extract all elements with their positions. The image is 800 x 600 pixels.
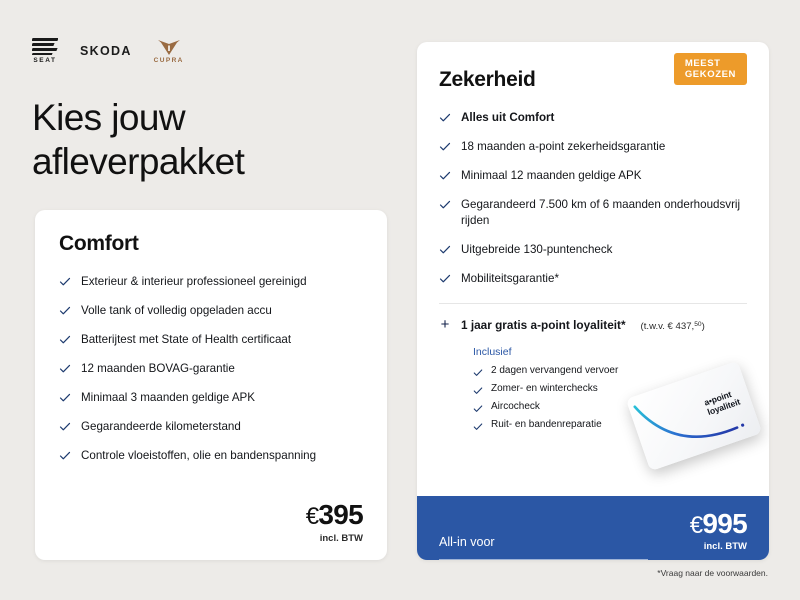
bonus-value-prefix: (t.w.v. € 437, bbox=[641, 321, 695, 332]
footer-price: €995 bbox=[690, 510, 747, 538]
seat-wordmark: SEAT bbox=[33, 57, 56, 64]
comfort-feature-list: Exterieur & interieur professioneel gere… bbox=[59, 274, 363, 464]
comfort-feature-text: Exterieur & interieur professioneel gere… bbox=[81, 274, 307, 290]
check-icon bbox=[473, 383, 483, 393]
list-item: Uitgebreide 130-puntencheck bbox=[439, 242, 747, 258]
list-item: 18 maanden a-point zekerheidsgarantie bbox=[439, 139, 747, 155]
comfort-price-block: €395 incl. BTW bbox=[306, 501, 363, 544]
comfort-feature-text: Volle tank of volledig opgeladen accu bbox=[81, 303, 272, 319]
included-title: Inclusief bbox=[473, 346, 747, 358]
currency-symbol: € bbox=[306, 503, 319, 530]
footer-underline bbox=[439, 559, 648, 560]
list-item: Mobiliteitsgarantie* bbox=[439, 271, 747, 287]
zekerheid-feature-text: Gegarandeerd 7.500 km of 6 maanden onder… bbox=[461, 197, 747, 229]
list-item: Gegarandeerd 7.500 km of 6 maanden onder… bbox=[439, 197, 747, 229]
zekerheid-feature-text: Mobiliteitsgarantie* bbox=[461, 271, 559, 287]
page-title: Kies jouw afleverpakket bbox=[32, 96, 362, 183]
check-icon bbox=[59, 363, 71, 375]
list-item: Minimaal 3 maanden geldige APK bbox=[59, 390, 363, 406]
list-item: Volle tank of volledig opgeladen accu bbox=[59, 303, 363, 319]
comfort-feature-text: 12 maanden BOVAG-garantie bbox=[81, 361, 235, 377]
check-icon bbox=[59, 334, 71, 346]
cupra-mark-icon bbox=[156, 38, 182, 56]
comfort-feature-text: Gegarandeerde kilometerstand bbox=[81, 419, 241, 435]
loyalty-card-graphic: a•point loyaliteit bbox=[626, 361, 762, 471]
bonus-value-cents: 50 bbox=[694, 321, 701, 328]
included-item-text: 2 dagen vervangend vervoer bbox=[491, 365, 618, 376]
included-item-text: Aircocheck bbox=[491, 401, 540, 412]
list-item: Minimaal 12 maanden geldige APK bbox=[439, 168, 747, 184]
zekerheid-body: MEEST GEKOZEN Zekerheid Alles uit Comfor… bbox=[417, 42, 769, 430]
check-icon bbox=[439, 273, 451, 285]
check-icon bbox=[439, 112, 451, 124]
cupra-logo-icon: CUPRA bbox=[154, 38, 184, 64]
check-icon bbox=[473, 365, 483, 375]
included-block: Inclusief 2 dagen vervangend vervoer Zom… bbox=[473, 346, 747, 430]
check-icon bbox=[59, 276, 71, 288]
loyalty-swoosh-icon bbox=[626, 361, 762, 471]
check-icon bbox=[59, 305, 71, 317]
package-card-zekerheid[interactable]: MEEST GEKOZEN Zekerheid Alles uit Comfor… bbox=[417, 42, 769, 560]
comfort-feature-text: Batterijtest met State of Health certifi… bbox=[81, 332, 291, 348]
seat-mark-icon bbox=[32, 38, 58, 55]
check-icon bbox=[59, 421, 71, 433]
check-icon bbox=[439, 170, 451, 182]
check-icon bbox=[473, 401, 483, 411]
cupra-wordmark: CUPRA bbox=[154, 57, 184, 64]
footer-price-block: €995 incl. BTW bbox=[690, 510, 747, 552]
skoda-logo-icon: SKODA bbox=[80, 44, 132, 58]
bonus-value-suffix: ) bbox=[702, 321, 705, 332]
comfort-feature-text: Minimaal 3 maanden geldige APK bbox=[81, 390, 255, 406]
bonus-text: 1 jaar gratis a-point loyaliteit* bbox=[461, 318, 626, 332]
zekerheid-feature-text: Minimaal 12 maanden geldige APK bbox=[461, 168, 641, 184]
zekerheid-footer: All-in voor €995 incl. BTW bbox=[417, 496, 769, 560]
comfort-title: Comfort bbox=[59, 232, 363, 256]
zekerheid-feature-text: Uitgebreide 130-puntencheck bbox=[461, 242, 612, 258]
zekerheid-feature-list: Alles uit Comfort 18 maanden a-point zek… bbox=[439, 110, 747, 287]
zekerheid-feature-text: Alles uit Comfort bbox=[461, 110, 554, 126]
bonus-value: (t.w.v. € 437,50) bbox=[641, 321, 705, 332]
divider bbox=[439, 303, 747, 304]
brand-logo-bar: SEAT SKODA CUPRA bbox=[32, 36, 184, 66]
list-item: Exterieur & interieur professioneel gere… bbox=[59, 274, 363, 290]
comfort-feature-text: Controle vloeistoffen, olie en bandenspa… bbox=[81, 448, 316, 464]
footer-label: All-in voor bbox=[439, 535, 495, 552]
currency-symbol: € bbox=[690, 512, 703, 539]
skoda-wordmark: SKODA bbox=[80, 44, 132, 58]
footer-price-amount: 995 bbox=[702, 508, 747, 539]
comfort-price-note: incl. BTW bbox=[306, 533, 363, 544]
bonus-row: + 1 jaar gratis a-point loyaliteit* (t.w… bbox=[439, 317, 747, 332]
check-icon bbox=[59, 392, 71, 404]
comfort-price: €395 bbox=[306, 501, 363, 529]
check-icon bbox=[439, 244, 451, 256]
list-item: 12 maanden BOVAG-garantie bbox=[59, 361, 363, 377]
included-item-text: Ruit- en bandenreparatie bbox=[491, 419, 602, 430]
list-item: Controle vloeistoffen, olie en bandenspa… bbox=[59, 448, 363, 464]
zekerheid-feature-text: 18 maanden a-point zekerheidsgarantie bbox=[461, 139, 665, 155]
list-item: Gegarandeerde kilometerstand bbox=[59, 419, 363, 435]
disclaimer-text: *Vraag naar de voorwaarden. bbox=[657, 568, 768, 578]
footer-price-note: incl. BTW bbox=[690, 541, 747, 552]
comfort-price-amount: 395 bbox=[318, 499, 363, 530]
check-icon bbox=[473, 419, 483, 429]
list-item: Alles uit Comfort bbox=[439, 110, 747, 126]
seat-logo-icon: SEAT bbox=[32, 38, 58, 64]
promo-page: SEAT SKODA CUPRA Kies jouw afleverpakket… bbox=[0, 0, 800, 600]
check-icon bbox=[439, 199, 451, 211]
plus-icon: + bbox=[439, 317, 451, 332]
status-badge: MEEST GEKOZEN bbox=[674, 53, 747, 85]
list-item: Batterijtest met State of Health certifi… bbox=[59, 332, 363, 348]
package-card-comfort[interactable]: Comfort Exterieur & interieur profession… bbox=[35, 210, 387, 560]
footer-row: All-in voor €995 incl. BTW bbox=[439, 510, 747, 552]
check-icon bbox=[439, 141, 451, 153]
included-item-text: Zomer- en winterchecks bbox=[491, 383, 598, 394]
check-icon bbox=[59, 450, 71, 462]
